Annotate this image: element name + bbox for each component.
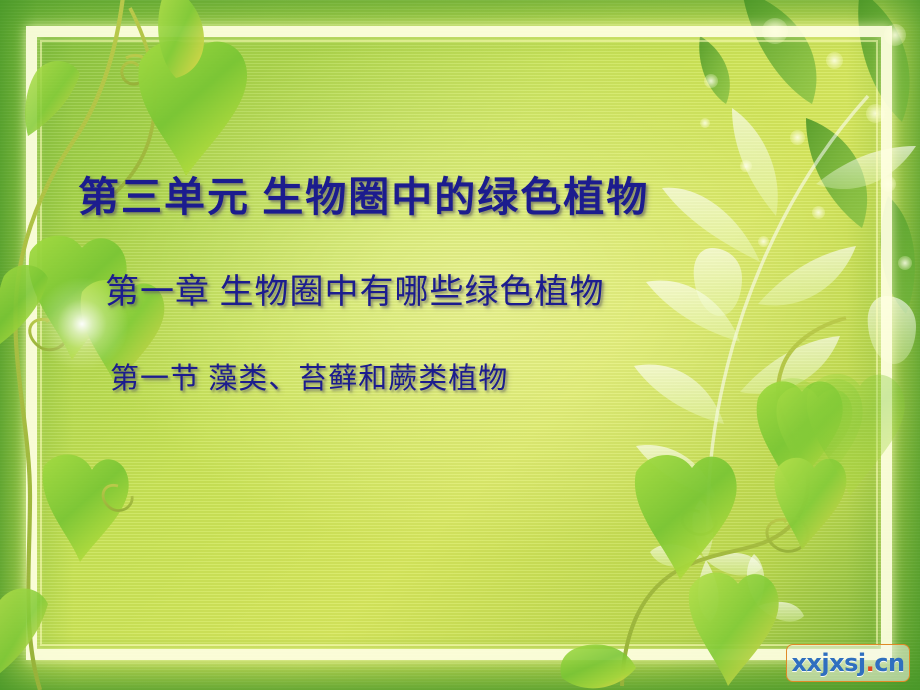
slide-subtitle-section: 第一节 藻类、苔藓和蕨类植物 — [110, 355, 508, 397]
presentation-slide: 第三单元 生物圈中的绿色植物 第一章 生物圈中有哪些绿色植物 第一节 藻类、苔藓… — [0, 0, 920, 690]
slide-subtitle-chapter: 第一章 生物圈中有哪些绿色植物 — [105, 264, 605, 313]
watermark-tld: cn — [874, 651, 904, 675]
watermark-site-name: xxjxsj — [791, 651, 865, 675]
site-watermark: xxjxsj.cn — [786, 644, 910, 682]
slide-title-unit: 第三单元 生物圈中的绿色植物 — [78, 163, 649, 223]
watermark-dot: . — [866, 651, 875, 675]
slide-text-block: 第三单元 生物圈中的绿色植物 第一章 生物圈中有哪些绿色植物 第一节 藻类、苔藓… — [0, 0, 920, 690]
